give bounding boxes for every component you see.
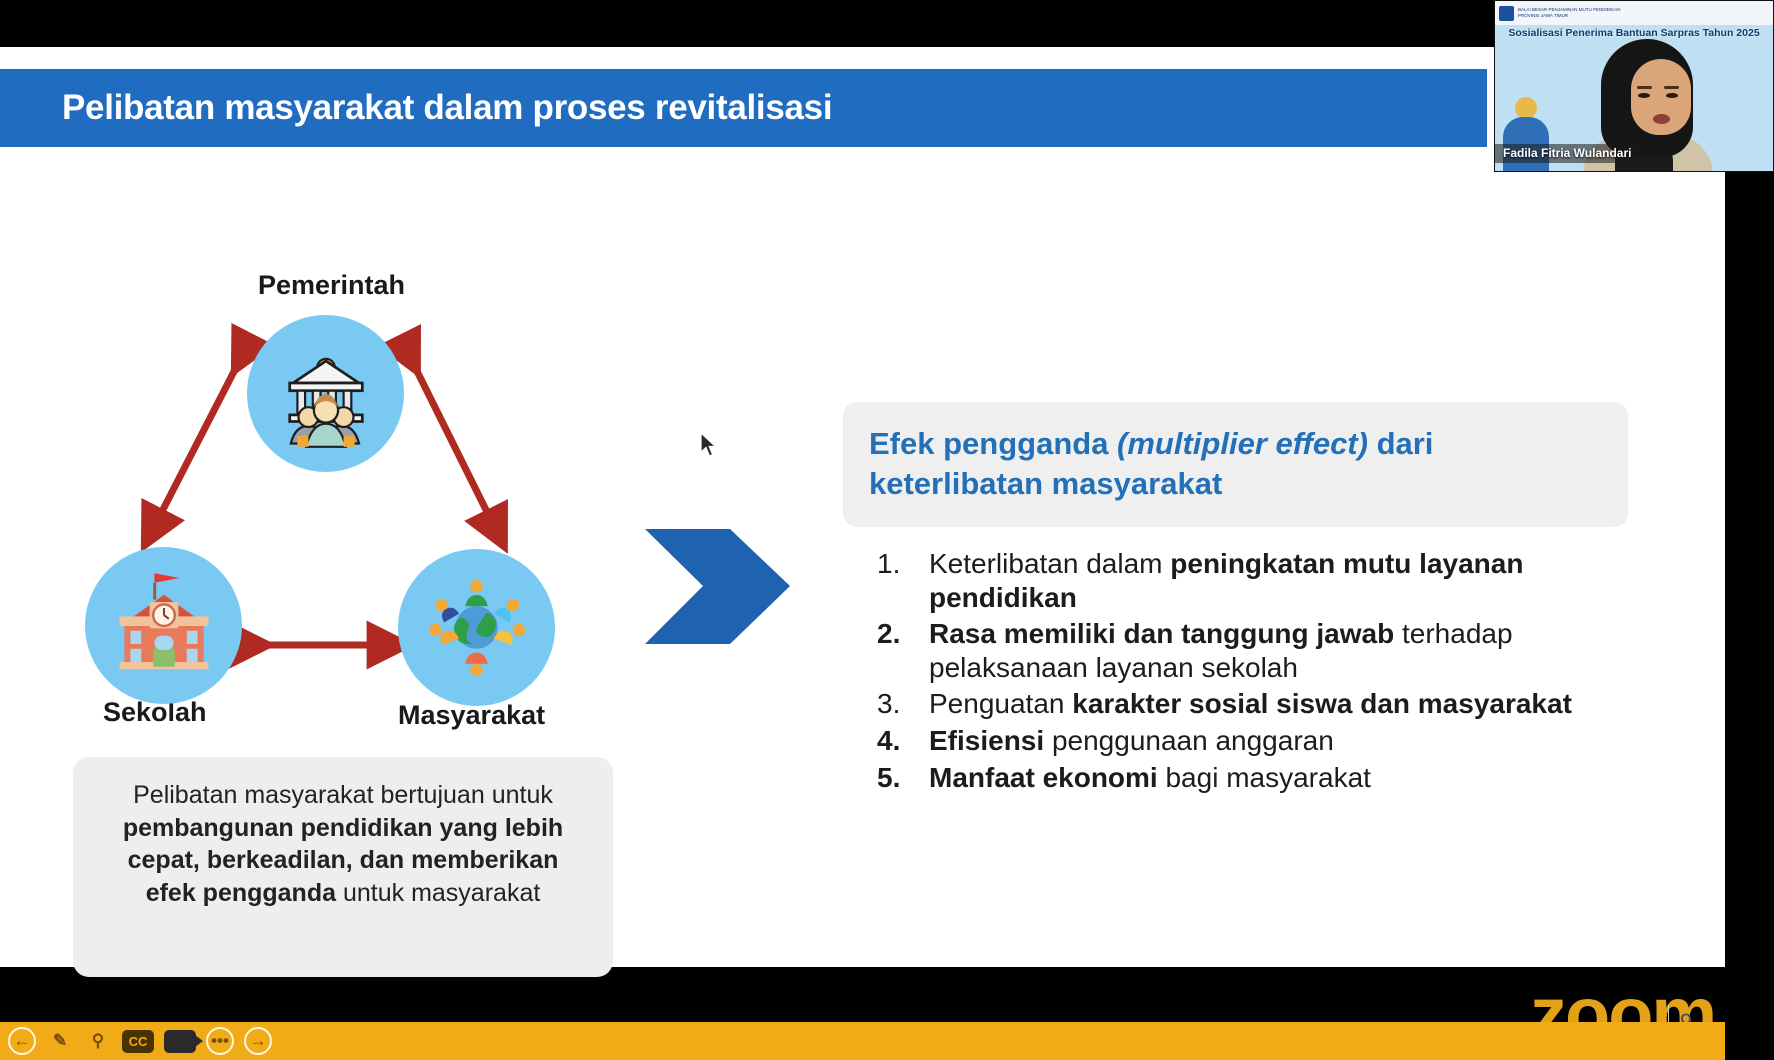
pencil-icon[interactable]: ✎: [46, 1027, 74, 1055]
more-options-icon[interactable]: •••: [206, 1027, 234, 1055]
back-arrow-icon[interactable]: ←: [8, 1027, 36, 1055]
node-circle-masyarakat: [398, 549, 555, 706]
node-circle-pemerintah: [247, 315, 404, 472]
slide-title-bar: Pelibatan masyarakat dalam proses revita…: [0, 69, 1487, 147]
effect-line2: keterlibatan masyarakat: [869, 466, 1222, 501]
effect-italic: (multiplier effect): [1117, 426, 1368, 461]
org-name: BALAI BESAR PENJAMINAN MUTU PENDIDIKAN P…: [1518, 7, 1621, 18]
node-label-pemerintah: Pemerintah: [258, 270, 405, 301]
list-item-plain-before: Penguatan: [929, 688, 1072, 719]
caption-card: Pelibatan masyarakat bertujuan untuk pem…: [73, 757, 613, 977]
presentation-slide: Pelibatan masyarakat dalam proses revita…: [0, 47, 1725, 967]
video-icon[interactable]: [164, 1030, 196, 1053]
effect-lead: Efek pengganda: [869, 426, 1117, 461]
presentation-toolbar[interactable]: ← ✎ ⚲ CC ••• →: [0, 1022, 1725, 1060]
caption-line-4-plain: untuk: [336, 879, 404, 907]
mouse-cursor: [700, 432, 720, 458]
list-item: 2. Rasa memiliki dan tanggung jawab terh…: [877, 617, 1677, 684]
list-item-text: Manfaat ekonomi bagi masyarakat: [929, 761, 1677, 795]
government-building-icon: [271, 339, 381, 449]
list-item-number: 4.: [877, 724, 929, 758]
list-item-number: 2.: [877, 617, 929, 684]
benefits-numbered-list: 1. Keterlibatan dalam peningkatan mutu l…: [877, 547, 1677, 797]
list-item-plain-after: penggunaan anggaran: [1044, 725, 1334, 756]
caption-line-5: masyarakat: [411, 879, 540, 907]
list-item-number: 3.: [877, 687, 929, 721]
org-logo-icon: [1499, 6, 1514, 21]
list-item-number: 1.: [877, 547, 929, 614]
community-globe-icon: [414, 565, 539, 690]
closed-caption-button[interactable]: CC: [122, 1030, 154, 1053]
list-item-number: 5.: [877, 761, 929, 795]
list-item-bold: Efisiensi: [929, 725, 1044, 756]
list-item-bold: Rasa memiliki dan tanggung jawab: [929, 618, 1394, 649]
list-item-plain-before: Keterlibatan dalam: [929, 548, 1170, 579]
forward-arrow-icon[interactable]: →: [244, 1027, 272, 1055]
page-title: Pelibatan masyarakat dalam proses revita…: [0, 88, 832, 128]
participant-name-label: Fadila Fitria Wulandari: [1495, 144, 1639, 163]
list-item-bold: karakter sosial siswa dan masyarakat: [1072, 688, 1572, 719]
list-item-text: Efisiensi penggunaan anggaran: [929, 724, 1677, 758]
list-item-text: Rasa memiliki dan tanggung jawab terhada…: [929, 617, 1677, 684]
blue-chevron-arrow: [645, 529, 790, 644]
list-item: 3. Penguatan karakter sosial siswa dan m…: [877, 687, 1677, 721]
multiplier-effect-headline: Efek pengganda (multiplier effect) dari …: [869, 424, 1602, 503]
list-item-bold: Manfaat ekonomi: [929, 762, 1158, 793]
webcam-org-header: BALAI BESAR PENJAMINAN MUTU PENDIDIKAN P…: [1495, 1, 1773, 25]
multiplier-effect-card: Efek pengganda (multiplier effect) dari …: [843, 402, 1628, 527]
list-item: 5. Manfaat ekonomi bagi masyarakat: [877, 761, 1677, 795]
screen-share-stage: Pelibatan masyarakat dalam proses revita…: [0, 0, 1774, 1022]
caption-line-2-bold: pembangunan pendidikan: [123, 814, 433, 842]
list-item-text: Keterlibatan dalam peningkatan mutu laya…: [929, 547, 1677, 614]
school-building-icon: [104, 566, 224, 686]
caption-line-1: Pelibatan masyarakat bertujuan: [133, 781, 485, 809]
magnifier-icon[interactable]: ⚲: [84, 1027, 112, 1055]
list-item-plain-after: bagi masyarakat: [1158, 762, 1371, 793]
list-item-text: Penguatan karakter sosial siswa dan masy…: [929, 687, 1677, 721]
list-item: 4. Efisiensi penggunaan anggaran: [877, 724, 1677, 758]
caption-line-2-plain: untuk: [492, 781, 553, 809]
node-circle-sekolah: [85, 547, 242, 704]
list-item: 1. Keterlibatan dalam peningkatan mutu l…: [877, 547, 1677, 614]
effect-tail: dari: [1368, 426, 1433, 461]
webcam-pip-panel[interactable]: BALAI BESAR PENJAMINAN MUTU PENDIDIKAN P…: [1494, 0, 1774, 172]
